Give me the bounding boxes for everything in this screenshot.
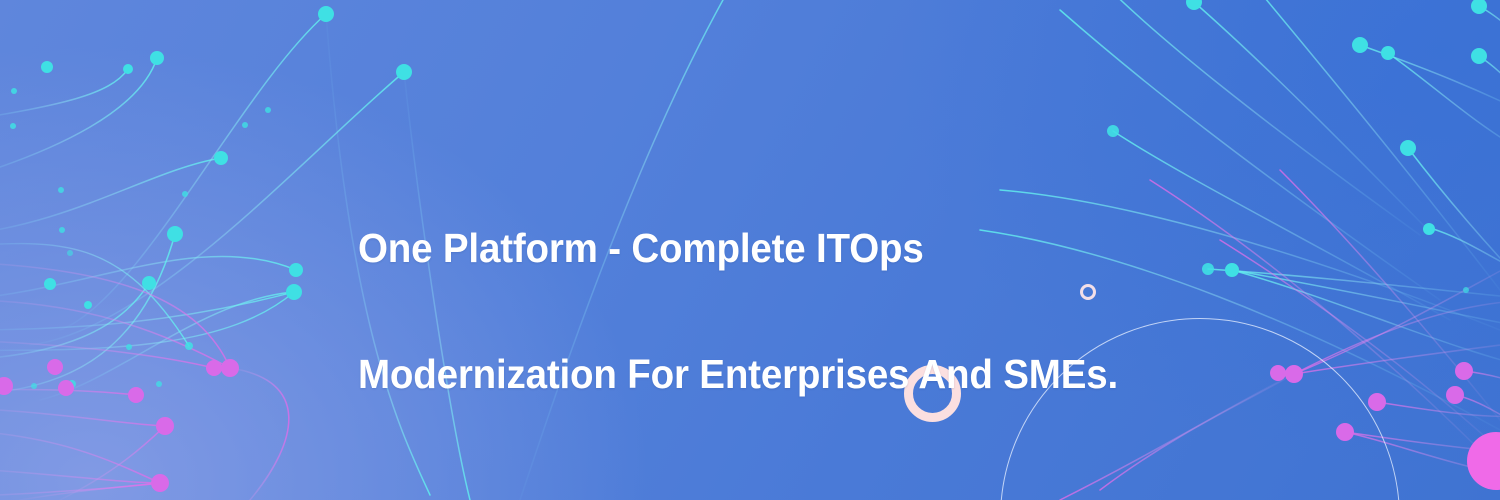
page-title-line-2: Modernization For Enterprises And SMEs.: [358, 343, 1185, 406]
pink-circle-blob-icon: [1467, 432, 1500, 490]
network-lines-left-pink: [0, 262, 289, 500]
network-nodes-left-pink: [0, 359, 239, 492]
page-title-line-1: One Platform - Complete ITOps: [358, 217, 1185, 280]
network-nodes-left-cyan: [10, 6, 412, 389]
page-title: One Platform - Complete ITOps Modernizat…: [358, 154, 1185, 469]
hero-banner: One Platform - Complete ITOps Modernizat…: [0, 0, 1500, 500]
network-lines-left-cyan-flat: [0, 244, 294, 351]
